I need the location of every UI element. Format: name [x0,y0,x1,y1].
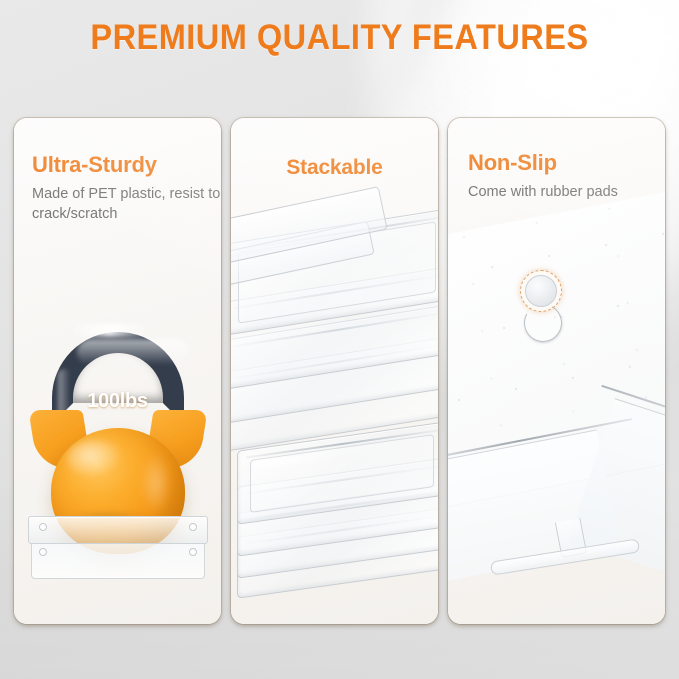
card-heading: Stackable [231,156,438,180]
card-heading: Non-Slip [468,150,665,175]
stackable-trays-illustration [231,118,438,624]
tray-top-face [28,516,208,544]
tray-corner-pad [39,548,47,556]
lower-tray-stack [237,436,438,586]
feature-card-non-slip[interactable]: Non-Slip Come with rubber pads [448,118,665,624]
kettlebell-weight-label: 100lbs [29,390,207,413]
feature-card-stackable[interactable]: Stackable [231,118,438,624]
card-subtitle: Come with rubber pads [468,182,665,202]
page-title: PREMIUM QUALITY FEATURES [24,18,655,58]
card-heading: Ultra-Sturdy [32,152,221,177]
kettlebell-handle-highlight [73,324,145,337]
feature-card-ultra-sturdy[interactable]: 100lbs Ultra-Sturdy Made of PET plastic,… [14,118,221,624]
card-subtitle: Made of PET plastic, resist to crack/scr… [32,184,221,224]
card-text-block: Stackable [231,118,438,180]
card-text-block: Ultra-Sturdy Made of PET plastic, resist… [14,118,221,224]
tray-corner-pad [39,523,47,531]
tray-corner-pad [189,548,197,556]
acrylic-tray-under-kettlebell [28,516,208,582]
rubber-pad-disc [525,275,557,307]
tray-front-face [31,543,205,579]
rubber-pad-callout [520,270,562,312]
card-text-block: Non-Slip Come with rubber pads [448,118,665,202]
tray-corner-pad [189,523,197,531]
feature-cards-row: 100lbs Ultra-Sturdy Made of PET plastic,… [14,118,665,624]
